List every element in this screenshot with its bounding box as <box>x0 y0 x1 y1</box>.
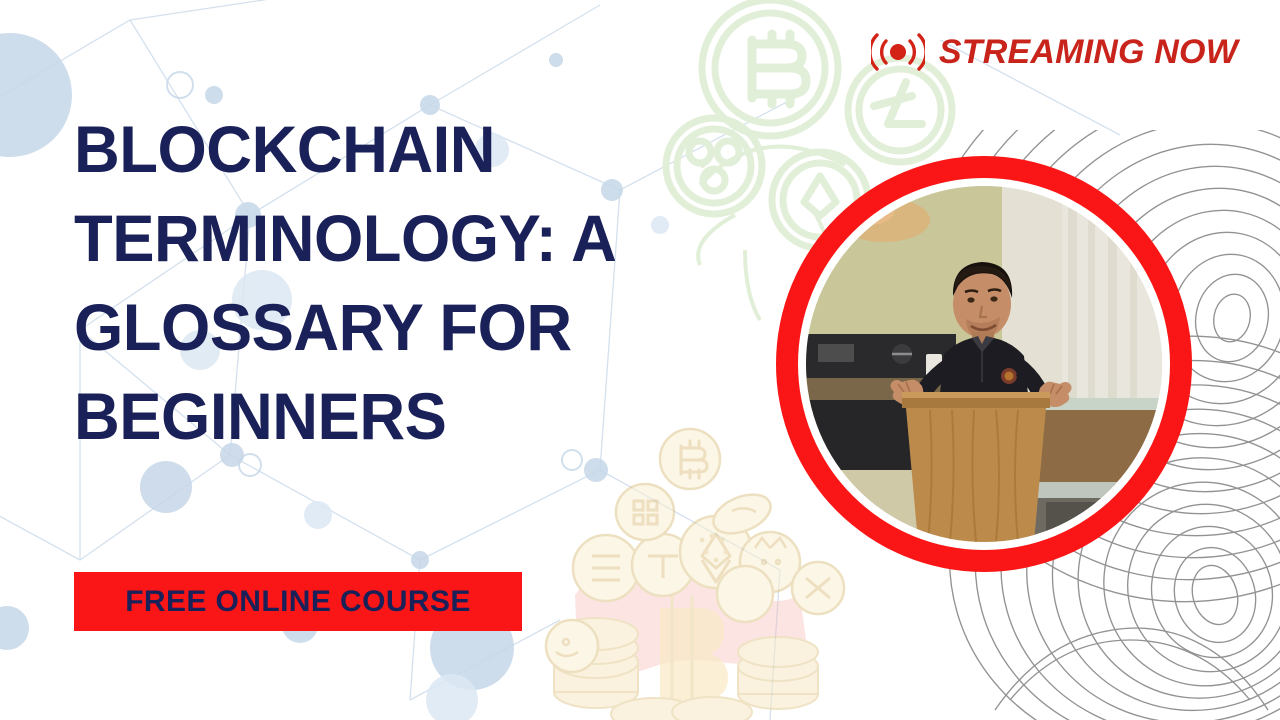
broadcast-icon <box>871 30 925 74</box>
free-online-course-banner[interactable]: FREE ONLINE COURSE <box>74 572 522 631</box>
headline-line-2: TERMINOLOGY: A <box>74 205 736 273</box>
page-title: BLOCKCHAIN TERMINOLOGY: A GLOSSARY FOR B… <box>74 116 764 472</box>
photo-white-gap <box>798 178 1170 550</box>
headline-line-3: GLOSSARY FOR <box>74 294 736 362</box>
headline-line-4: BEGINNERS <box>74 383 736 451</box>
streaming-now-badge: STREAMING NOW <box>871 30 1238 74</box>
streaming-now-label: STREAMING NOW <box>939 33 1238 72</box>
speaker-photo-image <box>806 186 1162 542</box>
headline-line-1: BLOCKCHAIN <box>74 116 736 184</box>
cta-label: FREE ONLINE COURSE <box>125 585 471 619</box>
speaker-photo-circle <box>776 156 1192 572</box>
thumbnail-canvas: STREAMING NOW BLOCKCHAIN TERMINOLOGY: A … <box>0 0 1280 720</box>
